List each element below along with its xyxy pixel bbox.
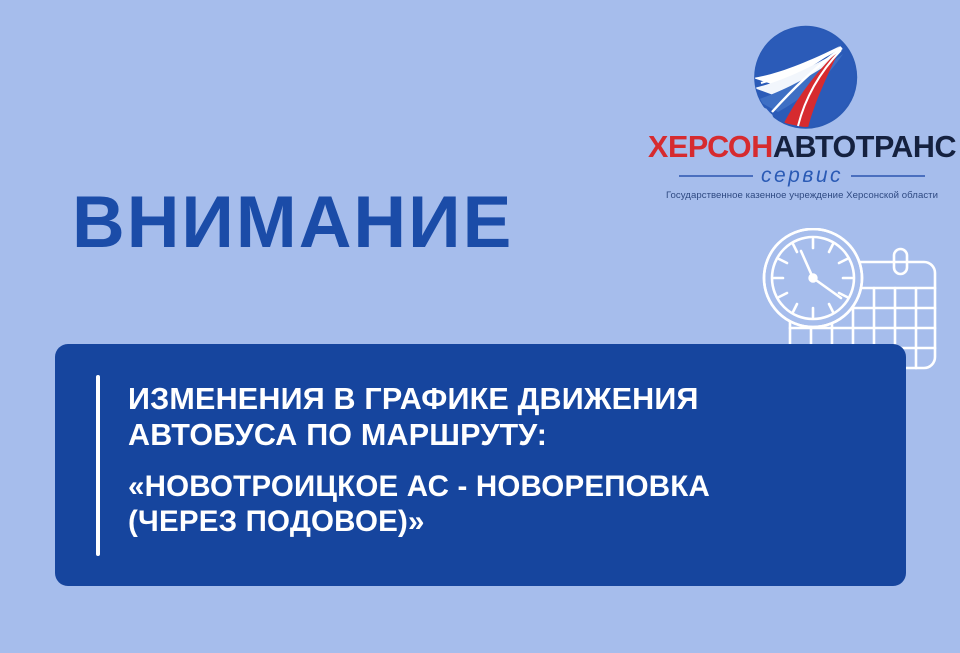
poster-canvas: ХЕРСОНАВТОТРАНС сервис Государственное к… [0, 0, 960, 653]
logo-service-row: сервис [648, 164, 956, 188]
notice-line-1: ИЗМЕНЕНИЯ В ГРАФИКЕ ДВИЖЕНИЯ [128, 382, 882, 418]
logo-wordmark-kherson: ХЕРСОН [648, 130, 773, 164]
notice-panel: ИЗМЕНЕНИЯ В ГРАФИКЕ ДВИЖЕНИЯ АВТОБУСА ПО… [55, 344, 906, 586]
notice-line-4: (ЧЕРЕЗ ПОДОВОЕ)» [128, 505, 882, 540]
notice-route-block: «НОВОТРОИЦКОЕ АС - НОВОРЕПОВКА (ЧЕРЕЗ ПО… [128, 470, 882, 539]
logo-subcaption: Государственное казенное учреждение Херс… [648, 190, 956, 201]
notice-line-2: АВТОБУСА ПО МАРШРУТУ: [128, 418, 882, 454]
service-rule-right [851, 175, 925, 177]
notice-line-3: «НОВОТРОИЦКОЕ АС - НОВОРЕПОВКА [128, 470, 882, 505]
notice-text-block: ИЗМЕНЕНИЯ В ГРАФИКЕ ДВИЖЕНИЯ АВТОБУСА ПО… [128, 382, 882, 539]
accent-divider [96, 375, 100, 556]
logo-service-text: сервис [761, 164, 843, 188]
logo-wordmark-avtotrans: АВТОТРАНС [773, 130, 956, 164]
clock-icon [764, 229, 862, 327]
road-swoosh-emblem [748, 20, 862, 134]
logo-wordmark: ХЕРСОНАВТОТРАНС [648, 132, 956, 163]
page-title: ВНИМАНИЕ [72, 186, 513, 259]
service-rule-left [679, 175, 753, 177]
company-logo: ХЕРСОНАВТОТРАНС сервис Государственное к… [648, 14, 956, 196]
